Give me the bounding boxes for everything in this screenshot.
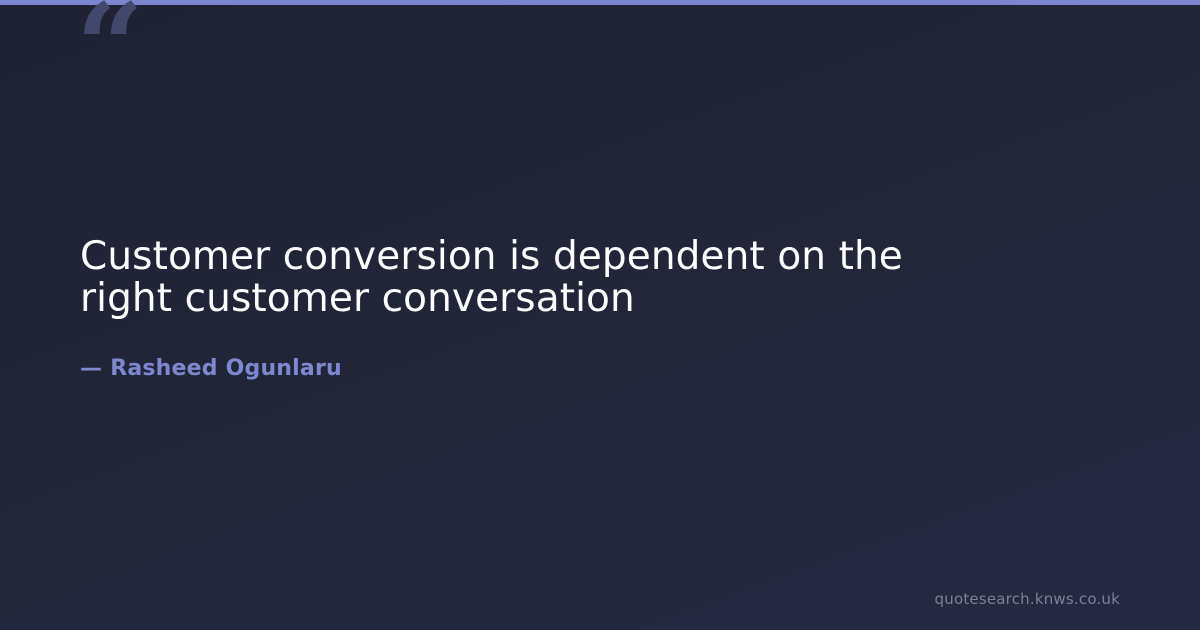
site-watermark: quotesearch.knws.co.uk xyxy=(935,590,1120,608)
quote-text: Customer conversion is dependent on the … xyxy=(80,236,980,320)
quote-content: Customer conversion is dependent on the … xyxy=(80,236,1090,382)
quote-attribution: —Rasheed Ogunlaru xyxy=(80,320,1090,382)
attribution-dash: — xyxy=(80,356,102,381)
quote-card: “ Customer conversion is dependent on th… xyxy=(0,0,1200,630)
top-accent-bar xyxy=(0,0,1200,5)
quote-mark-icon: “ xyxy=(76,0,142,106)
author-name: Rasheed Ogunlaru xyxy=(110,356,342,381)
